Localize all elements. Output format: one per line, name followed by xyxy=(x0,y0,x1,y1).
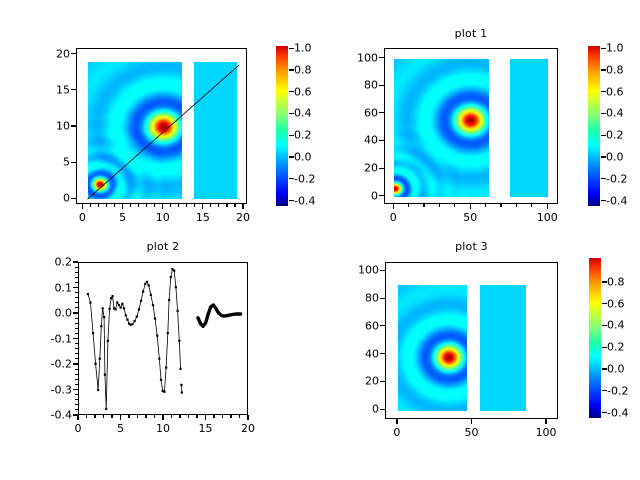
panel-bottom-right-axes xyxy=(385,262,558,419)
panel-bottom-right-right-block-canvas xyxy=(480,285,526,411)
panel-bottom-right-left-block-canvas xyxy=(398,285,467,411)
panel-bottom-right-yticklabel: 0 xyxy=(341,403,379,416)
panel-bottom-right-xticklabel: 0 xyxy=(393,426,400,439)
panel-bottom-right: plot 30501000204060801000.80.60.40.20.0-… xyxy=(0,0,640,480)
panel-bottom-right-yticklabel: 60 xyxy=(341,319,379,332)
panel-bottom-right-colorbar-ticklabel: 0.4 xyxy=(607,319,625,332)
panel-bottom-right-ytick xyxy=(380,409,385,410)
panel-bottom-right-ytick xyxy=(380,270,385,271)
panel-bottom-right-yticklabel: 80 xyxy=(341,292,379,305)
panel-bottom-right-colorbar-ticklabel: 0.8 xyxy=(607,275,625,288)
panel-bottom-right-colorbar-ticklabel: -0.2 xyxy=(607,384,628,397)
panel-bottom-right-colorbar-ticklabel: 0.2 xyxy=(607,341,625,354)
panel-bottom-right-colorbar-ticklabel: -0.4 xyxy=(607,406,628,419)
panel-bottom-right-colorbar-gradient xyxy=(589,258,601,418)
panel-bottom-right-xtick xyxy=(396,419,397,424)
panel-bottom-right-xtick xyxy=(545,419,546,424)
panel-bottom-right-image-left-block xyxy=(398,285,467,411)
panel-bottom-right-xticklabel: 50 xyxy=(465,426,479,439)
panel-bottom-right-xtick xyxy=(471,419,472,424)
panel-bottom-right-title: plot 3 xyxy=(385,240,558,253)
panel-bottom-right-colorbar-ticklabel: 0.0 xyxy=(607,363,625,376)
panel-bottom-right-yticklabel: 20 xyxy=(341,375,379,388)
panel-bottom-right-image-right-block xyxy=(480,285,526,411)
panel-bottom-right-ytick xyxy=(380,325,385,326)
panel-bottom-right-ytick xyxy=(380,353,385,354)
panel-bottom-right-ytick xyxy=(380,381,385,382)
panel-bottom-right-ytick xyxy=(380,298,385,299)
panel-bottom-right-yticklabel: 100 xyxy=(341,264,379,277)
panel-bottom-right-xticklabel: 100 xyxy=(536,426,557,439)
panel-bottom-right-colorbar xyxy=(589,258,601,418)
figure-canvas: 05101520051015201.00.80.60.40.20.0-0.2-0… xyxy=(0,0,640,480)
panel-bottom-right-colorbar-ticklabel: 0.6 xyxy=(607,297,625,310)
panel-bottom-right-yticklabel: 40 xyxy=(341,347,379,360)
